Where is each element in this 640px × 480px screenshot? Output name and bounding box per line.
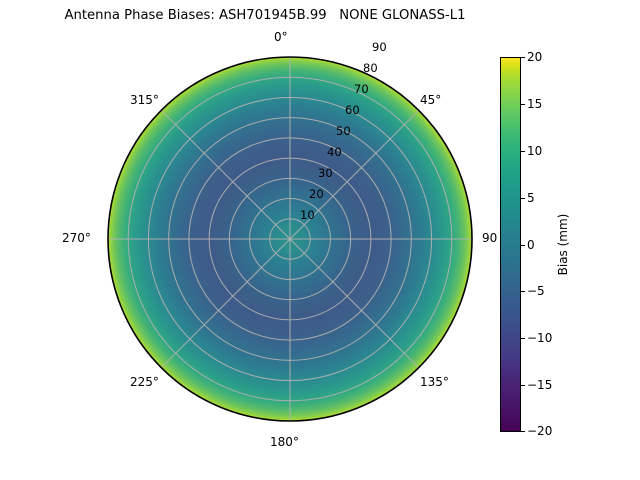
theta-tick-315: 315° — [130, 93, 159, 107]
colorbar-tick-mark — [521, 291, 525, 292]
colorbar: 20 15 10 5 0 −5 −10 −15 −20 — [500, 57, 521, 432]
colorbar-tick-label-10: 10 — [527, 145, 542, 157]
r-tick-80: 80 — [363, 62, 378, 75]
colorbar-tick-mark — [521, 151, 525, 152]
colorbar-tick-label-0: 0 — [527, 239, 535, 251]
r-tick-50: 50 — [336, 125, 351, 138]
r-tick-10: 10 — [300, 209, 315, 222]
theta-tick-45: 45° — [420, 93, 441, 107]
colorbar-tick-label-minus5: −5 — [527, 285, 545, 297]
theta-tick-135: 135° — [420, 375, 449, 389]
theta-tick-225: 225° — [130, 375, 159, 389]
figure-canvas: Antenna Phase Biases: ASH701945B.99 NONE… — [0, 0, 640, 480]
r-tick-30: 30 — [318, 167, 333, 180]
r-tick-60: 60 — [345, 104, 360, 117]
colorbar-tick-mark — [521, 198, 525, 199]
colorbar-tick-label-5: 5 — [527, 192, 535, 204]
r-tick-20: 20 — [309, 188, 324, 201]
colorbar-tick-label-20: 20 — [527, 51, 542, 63]
polar-grid — [108, 57, 472, 421]
colorbar-tick-mark — [521, 245, 525, 246]
colorbar-tick-mark — [521, 104, 525, 105]
colorbar-axis-label: Bias (mm) — [553, 57, 573, 432]
page-title: Antenna Phase Biases: ASH701945B.99 NONE… — [0, 8, 530, 24]
polar-axes: 0° 45° 90 135° 180° 225° 270° 315° 10 20… — [108, 57, 472, 421]
r-tick-70: 70 — [354, 83, 369, 96]
colorbar-gradient — [500, 57, 521, 432]
theta-tick-180: 180° — [270, 435, 299, 449]
theta-tick-270: 270° — [62, 231, 91, 245]
colorbar-tick-label-minus15: −15 — [527, 379, 552, 391]
colorbar-tick-label-15: 15 — [527, 98, 542, 110]
colorbar-tick-mark — [521, 338, 525, 339]
theta-tick-90: 90 — [482, 231, 497, 245]
colorbar-tick-mark — [521, 385, 525, 386]
colorbar-tick-mark — [521, 57, 525, 58]
theta-tick-0: 0° — [274, 30, 288, 44]
r-tick-40: 40 — [327, 146, 342, 159]
colorbar-tick-label-minus20: −20 — [527, 425, 552, 437]
colorbar-tick-label-minus10: −10 — [527, 332, 552, 344]
r-tick-90: 90 — [372, 41, 387, 54]
colorbar-tick-mark — [521, 431, 525, 432]
